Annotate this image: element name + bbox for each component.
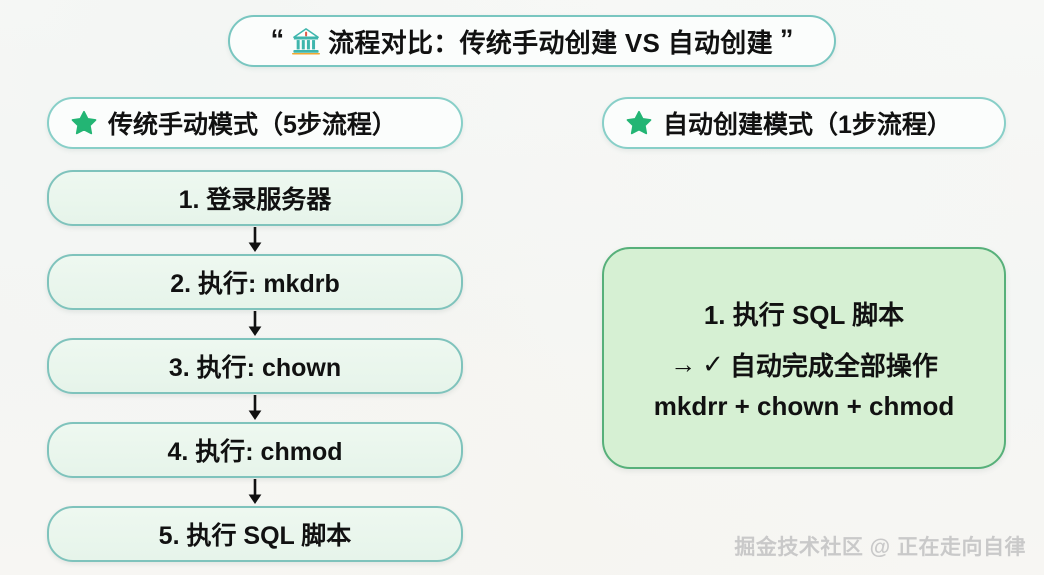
left-column-title: 传统手动模式（5步流程） [108,105,397,141]
flow-step-2[interactable]: 2. 执行: mkdrb [47,254,463,310]
flow-step-label: 5. 执行 SQL 脚本 [159,516,352,552]
down-arrow-icon [246,479,264,505]
flow-step-label: 2. 执行: mkdrb [170,264,339,300]
flow-connector [47,226,463,254]
auto-mode-card[interactable]: 1. 执行 SQL 脚本 → ✓ 自动完成全部操作 mkdrr + chown … [602,247,1006,469]
flow-step-4[interactable]: 4. 执行: chmod [47,422,463,478]
down-arrow-icon [246,311,264,337]
check-icon: ✓ [702,349,724,380]
page-title: 流程对比：传统手动创建 VS 自动创建 [328,23,773,60]
auto-card-line-2-text: 自动完成全部操作 [730,346,938,383]
auto-card-line-3: mkdrr + chown + chmod [654,391,955,422]
down-arrow-icon [246,227,264,253]
flow-step-label: 4. 执行: chmod [167,432,342,468]
closing-quote: ” [780,26,794,53]
flow-connector [47,478,463,506]
right-column-title: 自动创建模式（1步流程） [663,105,952,141]
title-banner: “ 流程对比：传统手动创建 VS 自动创建 ” [228,15,836,67]
opening-quote: “ [271,26,285,53]
left-column-header: 传统手动模式（5步流程） [47,97,463,149]
star-icon [626,110,652,136]
star-icon [71,110,97,136]
flow-step-label: 3. 执行: chown [169,348,341,384]
classical-building-icon [291,27,321,55]
auto-card-line-2: → ✓ 自动完成全部操作 [670,346,938,383]
watermark: 掘金技术社区 @ 正在走向自律 [734,531,1026,561]
flow-step-5[interactable]: 5. 执行 SQL 脚本 [47,506,463,562]
flow-connector [47,394,463,422]
flow-step-3[interactable]: 3. 执行: chown [47,338,463,394]
right-column-header: 自动创建模式（1步流程） [602,97,1006,149]
manual-flow-list: 1. 登录服务器 2. 执行: mkdrb 3. 执行: chown [47,170,463,562]
auto-card-line-1: 1. 执行 SQL 脚本 [704,295,904,332]
flow-step-1[interactable]: 1. 登录服务器 [47,170,463,226]
comparison-infographic: “ 流程对比：传统手动创建 VS 自动创建 ” 传统手动模式（5步流程） 自动创… [0,0,1044,575]
down-arrow-icon [246,395,264,421]
flow-step-label: 1. 登录服务器 [179,180,332,216]
flow-connector [47,310,463,338]
right-arrow-icon: → [670,349,696,380]
